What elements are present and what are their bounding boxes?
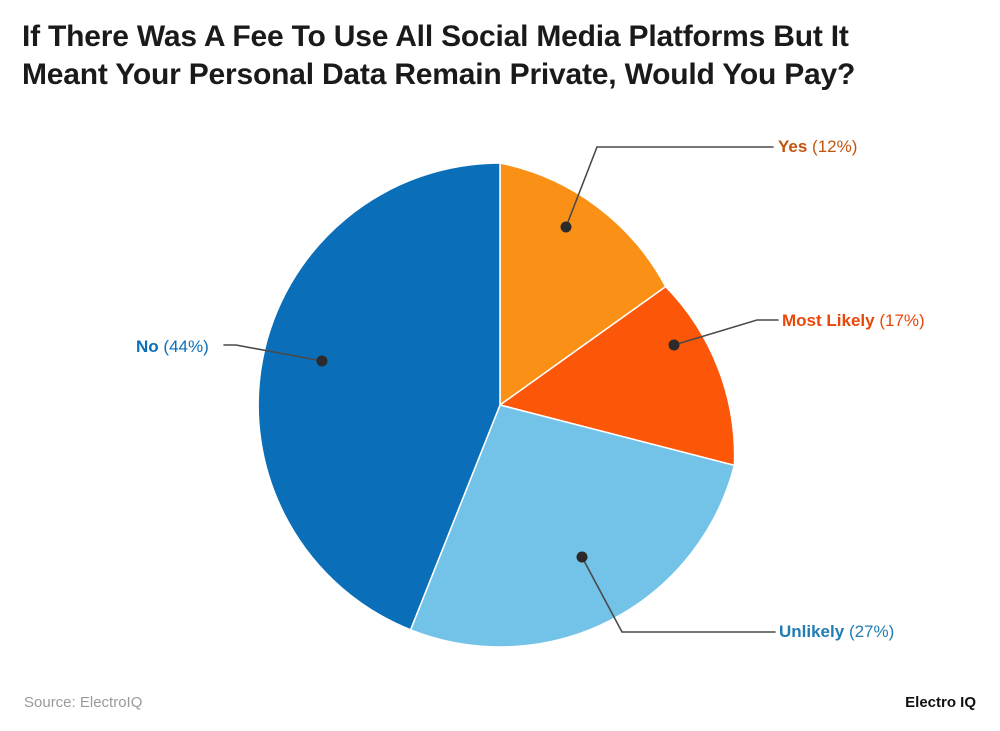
pie-label-unlikely-percent: (27%) — [849, 622, 894, 641]
pie-label-most-likely-percent: (17%) — [879, 311, 924, 330]
pie-slices — [258, 163, 734, 647]
pie-label-yes-name: Yes — [778, 137, 807, 156]
pie-label-most-likely-name: Most Likely — [782, 311, 875, 330]
pie-label-yes: Yes (12%) — [778, 137, 857, 157]
pie-label-no: No (44%) — [136, 337, 209, 357]
pie-label-unlikely-name: Unlikely — [779, 622, 844, 641]
pie-label-no-percent: (44%) — [163, 337, 208, 356]
pie-chart: Yes (12%) Most Likely (17%) Unlikely (27… — [0, 0, 1000, 731]
leader-dot-yes — [561, 222, 572, 233]
pie-label-most-likely: Most Likely (17%) — [782, 311, 925, 331]
pie-label-unlikely: Unlikely (27%) — [779, 622, 894, 642]
leader-dot-most-likely — [669, 340, 680, 351]
source-note: Source: ElectroIQ — [24, 694, 142, 711]
leader-dot-unlikely — [577, 552, 588, 563]
brand-logo: Electro IQ — [905, 694, 976, 711]
chart-page: If There Was A Fee To Use All Social Med… — [0, 0, 1000, 731]
leader-dot-no — [317, 356, 328, 367]
pie-label-yes-percent: (12%) — [812, 137, 857, 156]
pie-label-no-name: No — [136, 337, 159, 356]
